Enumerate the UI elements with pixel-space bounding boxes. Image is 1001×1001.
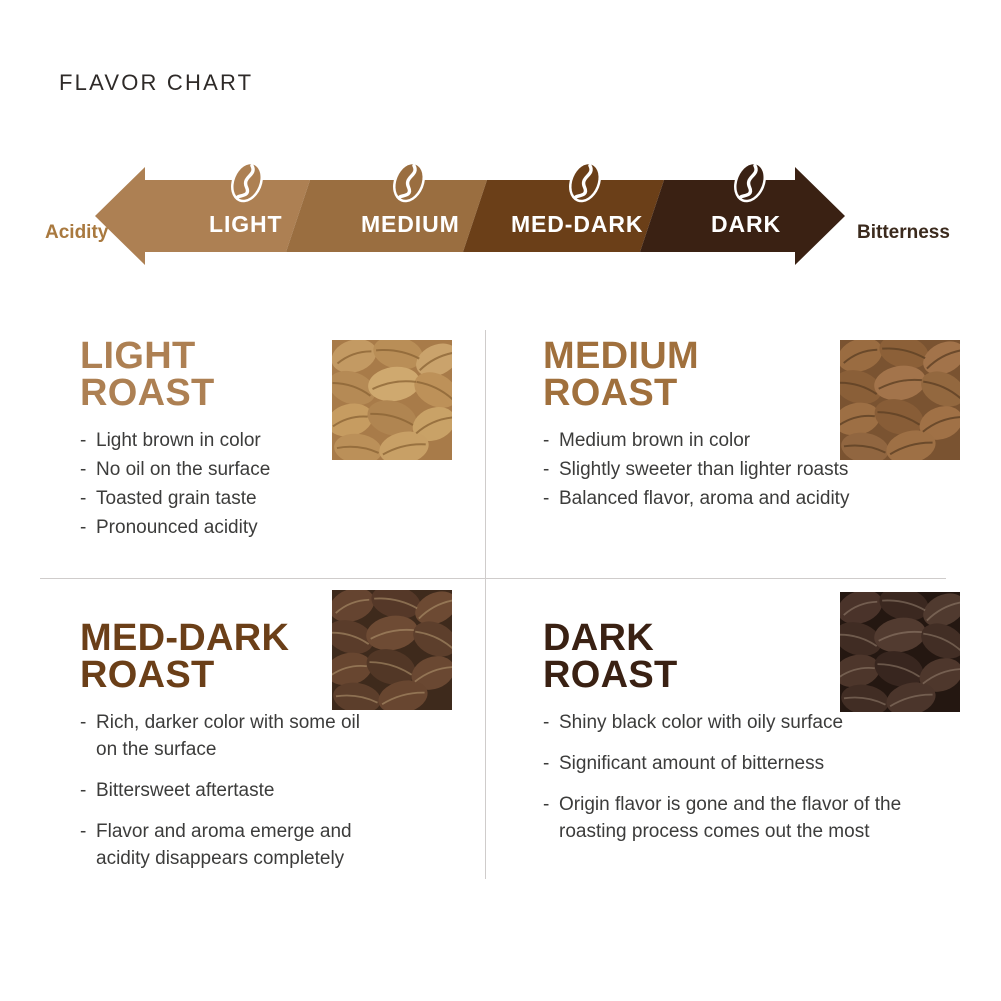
- list-item: Bittersweet aftertaste: [80, 778, 380, 805]
- acidity-label: Acidity: [45, 222, 108, 244]
- list-item: No oil on the surface: [80, 457, 480, 484]
- coffee-bean-icon: [224, 155, 270, 205]
- list-item: Shiny black color with oily surface: [543, 710, 928, 737]
- light-roast-beans-photo: [332, 340, 452, 460]
- med-dark-roast-beans-photo: [332, 590, 452, 710]
- page-title: FLAVOR CHART: [59, 70, 253, 96]
- list-item: Origin flavor is gone and the flavor of …: [543, 792, 928, 846]
- grid-divider-vertical-top: [485, 330, 486, 578]
- list-item: Balanced flavor, aroma and acidity: [543, 486, 963, 513]
- med-dark-roast-bullets: Rich, darker color with some oil on the …: [80, 710, 380, 873]
- roast-scale: Acidity Bitterness LIGHT MEDIUM MED-DARK…: [0, 160, 1001, 280]
- list-item: Rich, darker color with some oil on the …: [80, 710, 380, 764]
- list-item: Toasted grain taste: [80, 486, 480, 513]
- scale-label-light: LIGHT: [209, 211, 283, 238]
- scale-label-medium: MEDIUM: [361, 211, 460, 238]
- scale-label-dark: DARK: [711, 211, 781, 238]
- coffee-bean-icon: [562, 155, 608, 205]
- grid-divider-horizontal: [40, 578, 946, 579]
- flavor-chart-page: FLAVOR CHART Acidity Bitterness LIGHT ME…: [0, 0, 1001, 1001]
- list-item: Pronounced acidity: [80, 515, 480, 542]
- scale-label-med-dark: MED-DARK: [511, 211, 643, 238]
- list-item: Slightly sweeter than lighter roasts: [543, 457, 963, 484]
- medium-roast-beans-photo: [840, 340, 960, 460]
- bitterness-label: Bitterness: [857, 222, 950, 244]
- roast-quadrant-grid: LIGHT ROAST Light brown in color No oil …: [0, 300, 1001, 1000]
- coffee-bean-icon: [727, 155, 773, 205]
- list-item: Significant amount of bitterness: [543, 751, 928, 778]
- roast-scale-arrow: [0, 160, 1001, 280]
- dark-roast-beans-photo: [840, 592, 960, 712]
- list-item: Flavor and aroma emerge and acidity disa…: [80, 819, 380, 873]
- dark-roast-bullets: Shiny black color with oily surface Sign…: [543, 710, 928, 846]
- coffee-bean-icon: [386, 155, 432, 205]
